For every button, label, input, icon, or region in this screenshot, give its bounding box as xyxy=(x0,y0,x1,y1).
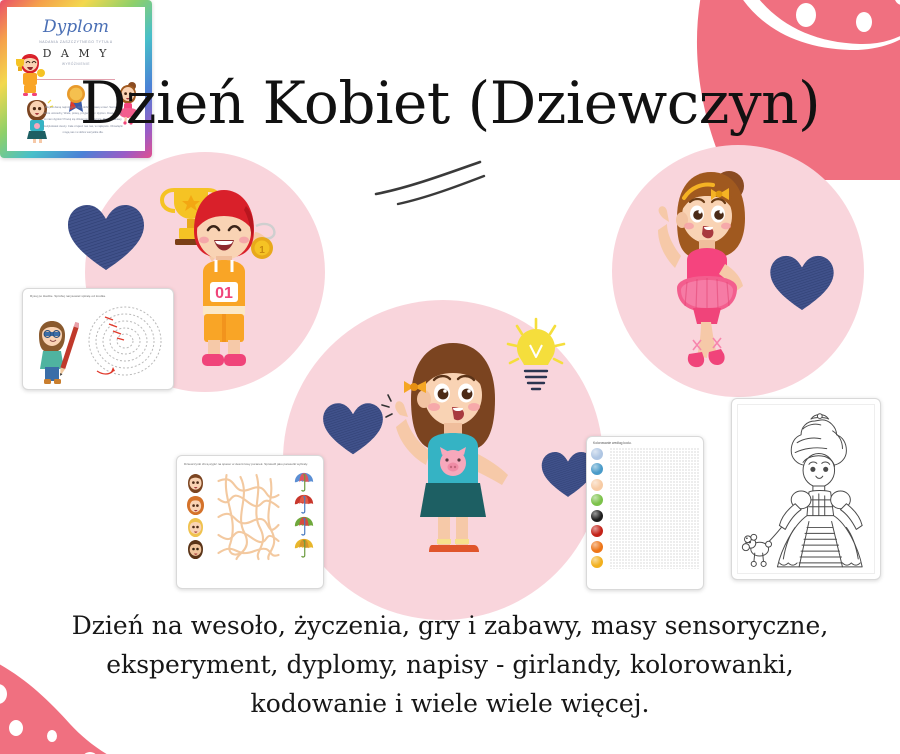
maze-instruction: Dziewczynki chcą wyjść na spacer w deszc… xyxy=(177,456,323,467)
pig-shirt-graphic xyxy=(440,447,466,476)
maze-tangled-lines xyxy=(209,471,290,561)
princess-coloring-card[interactable] xyxy=(731,398,881,580)
navy-heart-icon-1 xyxy=(62,192,150,276)
legend-swatch-5[interactable] xyxy=(591,510,603,522)
legend-swatch-8[interactable] xyxy=(591,556,603,568)
svg-text:1: 1 xyxy=(259,245,265,256)
jersey-number: 01 xyxy=(215,285,233,302)
princess-with-poodle-lineart xyxy=(738,405,874,573)
diploma-subtitle-above: NADANIA ZASZCZYTNEGO TYTUŁU xyxy=(7,40,145,44)
spiral-tracing-path xyxy=(75,301,167,379)
caption-line-3: kodowanie i wiele wiele więcej. xyxy=(0,684,900,723)
caption-line-2: eksperyment, dyplomy, napisy - girlandy,… xyxy=(0,645,900,684)
character-girl-ballerina xyxy=(655,160,761,380)
medal-icon: 1 xyxy=(251,224,274,259)
maze-worksheet-card[interactable]: Dziewczynki chcą wyjść na spacer w deszc… xyxy=(176,455,324,589)
navy-heart-icon-3 xyxy=(765,245,839,315)
girl-face-dark xyxy=(185,539,206,560)
diploma-title: Dyplom xyxy=(7,17,145,37)
umbrella-rainbow xyxy=(293,472,315,494)
swoosh-lines-icon xyxy=(368,158,486,222)
girl-face-brown xyxy=(185,473,206,494)
maze-left-column xyxy=(185,472,206,560)
page-title: Dzień Kobiet (Dziewczyn) xyxy=(0,74,900,132)
pixel-coding-worksheet-card[interactable]: Kolorowanie według kodu. xyxy=(586,436,704,590)
caption-block: Dzień na wesoło, życzenia, gry i zabawy,… xyxy=(0,606,900,723)
umbrella-yellow xyxy=(293,538,315,560)
tracing-instruction: Rysuj po śladzie. Spróbuj narysować spir… xyxy=(23,289,173,299)
color-legend xyxy=(591,447,606,569)
tracing-worksheet-card[interactable]: Rysuj po śladzie. Spróbuj narysować spir… xyxy=(22,288,174,390)
poster-canvas: 1 01 xyxy=(0,0,900,754)
umbrella-green xyxy=(293,516,315,538)
girl-face-ginger xyxy=(185,495,206,516)
girl-face-blonde xyxy=(185,517,206,538)
legend-swatch-6[interactable] xyxy=(591,525,603,537)
girl-with-pencil-illustration xyxy=(27,317,79,387)
maze-right-column xyxy=(293,472,315,560)
legend-swatch-2[interactable] xyxy=(591,463,603,475)
legend-swatch-7[interactable] xyxy=(591,541,603,553)
legend-swatch-4[interactable] xyxy=(591,494,603,506)
character-girl-pointing xyxy=(378,333,528,565)
coloring-page-frame xyxy=(737,404,875,574)
umbrella-red xyxy=(293,494,315,516)
legend-swatch-1[interactable] xyxy=(591,448,603,460)
legend-swatch-3[interactable] xyxy=(591,479,603,491)
caption-line-1: Dzień na wesoło, życzenia, gry i zabawy,… xyxy=(0,606,900,645)
pixel-grid[interactable] xyxy=(609,447,699,569)
coding-instruction: Kolorowanie według kodu. xyxy=(587,437,703,447)
character-girl-with-trophy: 1 01 xyxy=(158,176,290,374)
